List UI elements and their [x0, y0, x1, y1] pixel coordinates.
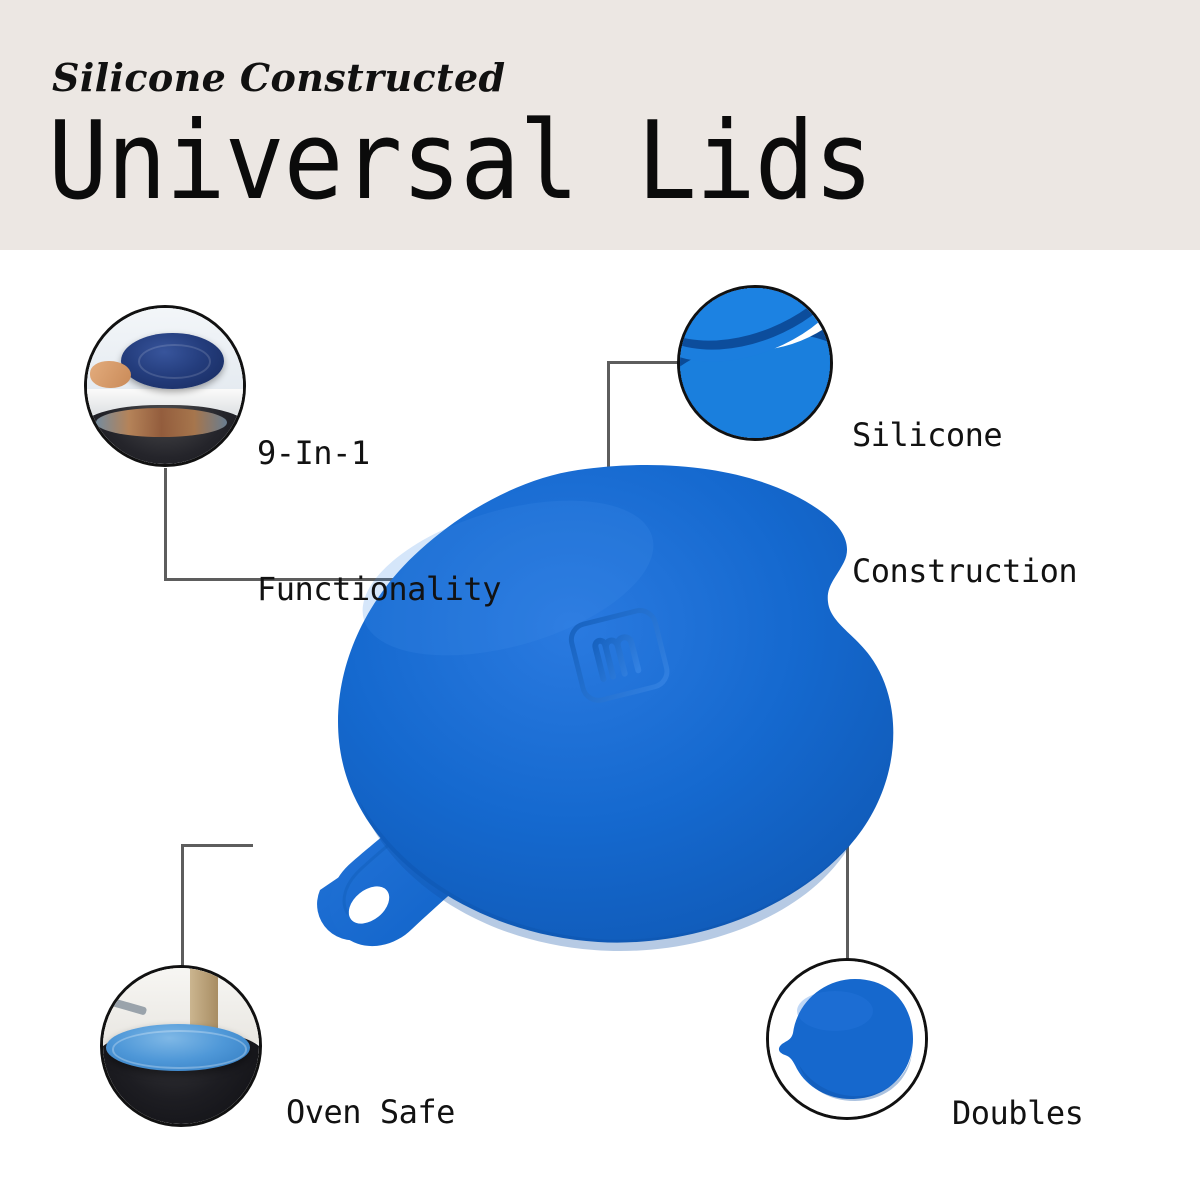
callout-circle-nine-in-one	[84, 305, 246, 467]
callout-circle-silicone-construction	[677, 285, 833, 441]
callout-label-doubles-as-trivet: Doubles As A Trivet	[952, 1000, 1158, 1200]
callout-label-silicone-line2: Construction	[852, 549, 1077, 594]
callout-label-oven-safe: Oven Safe Up To 400F	[286, 999, 474, 1200]
connector-line-nine-in-one-vertical	[164, 468, 167, 581]
photo-blue-lid-rim	[112, 1030, 247, 1068]
photo-silicone-construction	[680, 288, 830, 438]
photo-hand	[90, 361, 131, 388]
connector-line-oven-safe-vertical	[181, 844, 184, 966]
eyebrow-text: Silicone Constructed	[52, 55, 506, 100]
callout-label-nine-in-one-line2: Functionality	[257, 567, 501, 612]
callout-label-nine-in-one-line1: 9-In-1	[257, 431, 501, 476]
infographic-page: Silicone Constructed Universal Lids	[0, 0, 1200, 1200]
header-band: Silicone Constructed Universal Lids	[0, 0, 1200, 250]
callout-label-trivet-line1: Doubles	[952, 1091, 1158, 1136]
page-title: Universal Lids	[48, 108, 873, 216]
photo-nine-in-one	[87, 308, 243, 464]
photo-lid-ring	[138, 344, 211, 379]
callout-circle-oven-safe	[100, 965, 262, 1127]
photo-oven-cabinet	[190, 968, 218, 1030]
connector-line-silicone-horizontal	[607, 361, 679, 364]
callout-label-nine-in-one: 9-In-1 Functionality	[257, 340, 501, 704]
callout-label-silicone-construction: Silicone Construction	[852, 322, 1077, 686]
photo-doubles-as-trivet	[769, 961, 925, 1117]
callout-label-silicone-line1: Silicone	[852, 413, 1077, 458]
callout-circle-doubles-as-trivet	[766, 958, 928, 1120]
trivet-lid-topview	[769, 961, 928, 1120]
trivet-lid-highlight	[797, 991, 873, 1031]
photo-oven-safe	[103, 968, 259, 1124]
callout-label-oven-safe-line1: Oven Safe	[286, 1090, 474, 1135]
